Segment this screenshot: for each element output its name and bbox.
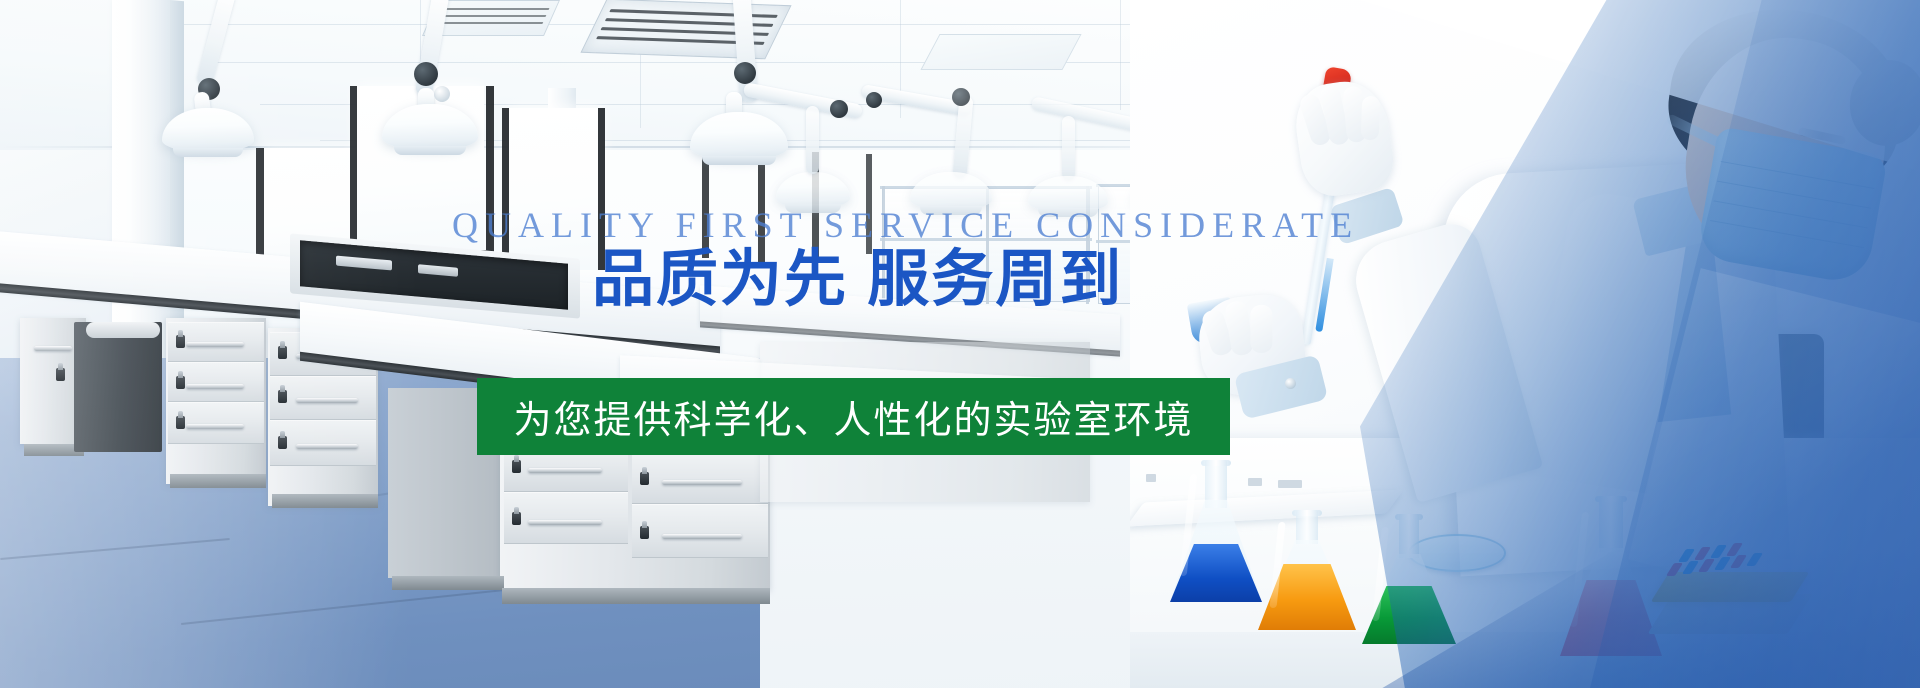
- drawer-lock: [176, 376, 185, 389]
- cabinet-plinth: [502, 588, 770, 604]
- drawer: [632, 504, 768, 558]
- under-bench-appliance: [74, 322, 162, 452]
- cabinet-plinth: [392, 576, 504, 590]
- banner-subhead-bar: 为您提供科学化、人性化的实验室环境: [477, 378, 1230, 455]
- extraction-arm: [1062, 116, 1075, 180]
- ceiling-vent-grille: [920, 34, 1081, 70]
- drawer-handle: [528, 520, 602, 525]
- cabinet-handle: [34, 346, 72, 351]
- hero-banner: ◐: [0, 0, 1920, 688]
- arm-joint: [830, 100, 848, 118]
- cuff-button: [1285, 378, 1296, 389]
- cabinet-plinth: [272, 494, 378, 508]
- banner-headline: 品质为先 服务周到: [592, 249, 1123, 311]
- orange-flask: [1258, 510, 1356, 630]
- drawer-lock: [176, 416, 185, 429]
- glove-upper: [1291, 76, 1398, 200]
- drawer-lock: [640, 472, 649, 485]
- tray-chip: [1146, 474, 1156, 482]
- blue-flask: [1170, 460, 1262, 602]
- drawer-handle: [528, 468, 602, 473]
- banner-eyebrow-text: QUALITY FIRST SERVICE CONSIDERATE: [452, 204, 1359, 246]
- tray-chip: [1278, 480, 1302, 488]
- cabinet-plinth: [170, 474, 266, 488]
- drawer-lock: [278, 346, 287, 359]
- ceiling-vent-grille: [580, 0, 791, 59]
- arm-joint: [734, 62, 756, 84]
- ceiling-grid-line: [1120, 0, 1121, 110]
- structural-column: [112, 0, 170, 370]
- drawer-handle: [186, 342, 244, 347]
- drawer-lock: [176, 335, 185, 348]
- drawer-lock: [278, 390, 287, 403]
- banner-subhead-text: 为您提供科学化、人性化的实验室环境: [513, 389, 1193, 444]
- arm-joint: [866, 92, 882, 108]
- arm-joint: [414, 62, 438, 86]
- drawer-handle: [296, 444, 358, 449]
- drawer-handle: [186, 384, 244, 389]
- technician-photo-panel: [1130, 0, 1920, 688]
- arm-joint: [434, 86, 450, 102]
- drawer-lock: [512, 460, 521, 473]
- appliance-handle: [86, 322, 160, 338]
- drawer-handle: [662, 480, 742, 485]
- window-frame: [350, 86, 357, 256]
- arm-joint: [952, 88, 970, 106]
- drawer-handle: [186, 424, 244, 429]
- extraction-arm: [806, 106, 819, 174]
- cabinet-lock: [56, 368, 65, 381]
- drawer-lock: [640, 526, 649, 539]
- drawer-lock: [278, 436, 287, 449]
- drawer-handle: [662, 534, 742, 539]
- drawer-lock: [512, 512, 521, 525]
- drawer: [632, 452, 768, 504]
- drawer: [504, 492, 628, 544]
- drawer-handle: [296, 398, 358, 403]
